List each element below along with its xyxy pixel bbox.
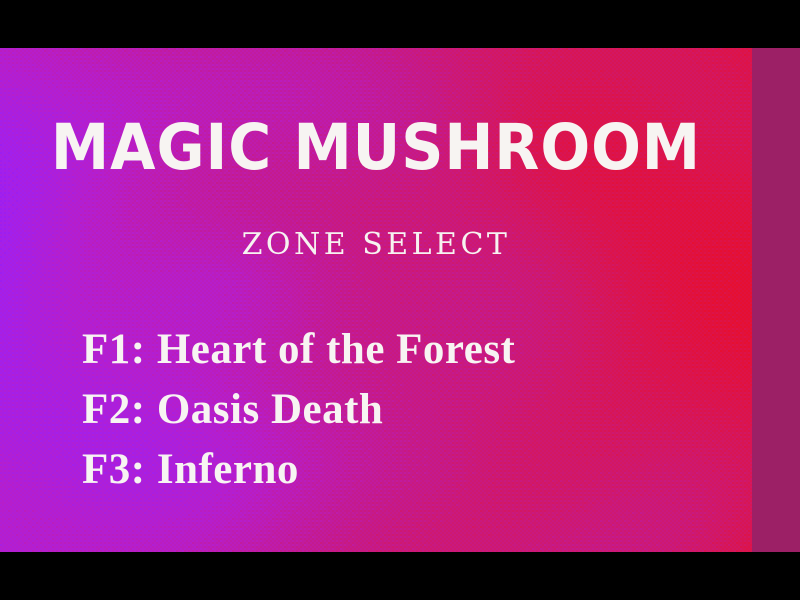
menu-item-f3[interactable]: F3: Inferno <box>82 440 722 500</box>
letterbox-bottom <box>0 552 800 600</box>
menu-item-f2[interactable]: F2: Oasis Death <box>82 380 722 440</box>
zone-select-subtitle: ZONE SELECT <box>0 230 752 260</box>
page-title: MAGIC MUSHROOM <box>26 116 725 179</box>
menu-item-f1[interactable]: F1: Heart of the Forest <box>82 320 722 380</box>
letterbox-top <box>0 0 800 48</box>
game-screen: MAGIC MUSHROOM ZONE SELECT F1: Heart of … <box>0 0 800 600</box>
side-color-column <box>752 48 800 552</box>
zone-select-menu: F1: Heart of the Forest F2: Oasis Death … <box>82 320 722 500</box>
